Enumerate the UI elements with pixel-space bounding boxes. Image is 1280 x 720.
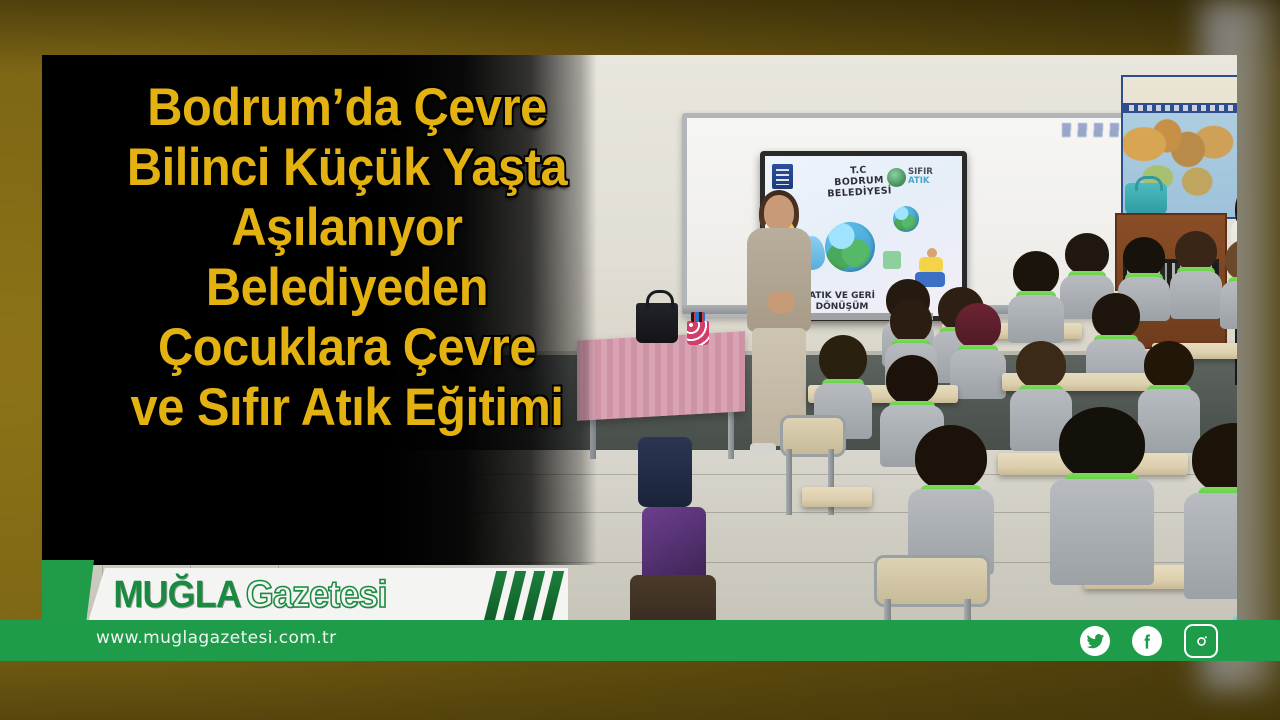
municipality-logo-icon <box>772 164 793 189</box>
site-logo[interactable]: MUĞLA Gazetesi <box>110 572 391 618</box>
facebook-icon[interactable] <box>1132 626 1162 656</box>
headline-line-2: Bilinci Küçük Yaşta <box>66 138 627 198</box>
backpack <box>638 437 692 507</box>
headline-line-6: ve Sıfır Atık Eğitimi <box>66 378 627 438</box>
slide-zero-waste-label: SIFIR ATIK <box>908 168 933 186</box>
slide-atik: ATIK <box>908 177 933 186</box>
logo-text-gazetesi: Gazetesi <box>246 574 387 617</box>
logo-text-mugla: MUĞLA <box>113 574 241 617</box>
social-links <box>1080 624 1218 658</box>
logo-stripes-decoration <box>490 571 570 621</box>
twitter-icon[interactable] <box>1080 626 1110 656</box>
headline-line-3: Aşılanıyor <box>66 198 627 258</box>
backpack <box>642 507 706 585</box>
headline-line-5: Çocuklara Çevre <box>66 318 627 378</box>
student <box>1170 231 1222 319</box>
globe-icon <box>825 222 875 272</box>
student <box>1050 407 1154 585</box>
student <box>908 425 994 575</box>
headline-line-1: Bodrum’da Çevre <box>66 78 627 138</box>
news-image-card: T.C BODRUM BELEDİYESİ SIFIR ATIK <box>0 0 1280 720</box>
teal-bag <box>1125 183 1167 215</box>
chair <box>874 555 990 607</box>
student <box>1220 239 1237 329</box>
recycle-bin-icon <box>883 251 901 269</box>
pencil-cup <box>687 321 709 345</box>
site-url[interactable]: www.muglagazetesi.com.tr <box>96 628 337 648</box>
zero-waste-badge-icon <box>887 168 906 187</box>
brand-accent-block <box>42 560 94 626</box>
student <box>950 303 1006 399</box>
page-title: Bodrum’da Çevre Bilinci Küçük Yaşta Aşıl… <box>66 78 627 438</box>
headline-line-4: Belediyeden <box>66 258 627 318</box>
student <box>1184 423 1237 599</box>
student <box>1008 251 1064 343</box>
handbag <box>636 303 678 343</box>
instagram-icon[interactable] <box>1184 624 1218 658</box>
small-globe-icon <box>893 206 919 232</box>
